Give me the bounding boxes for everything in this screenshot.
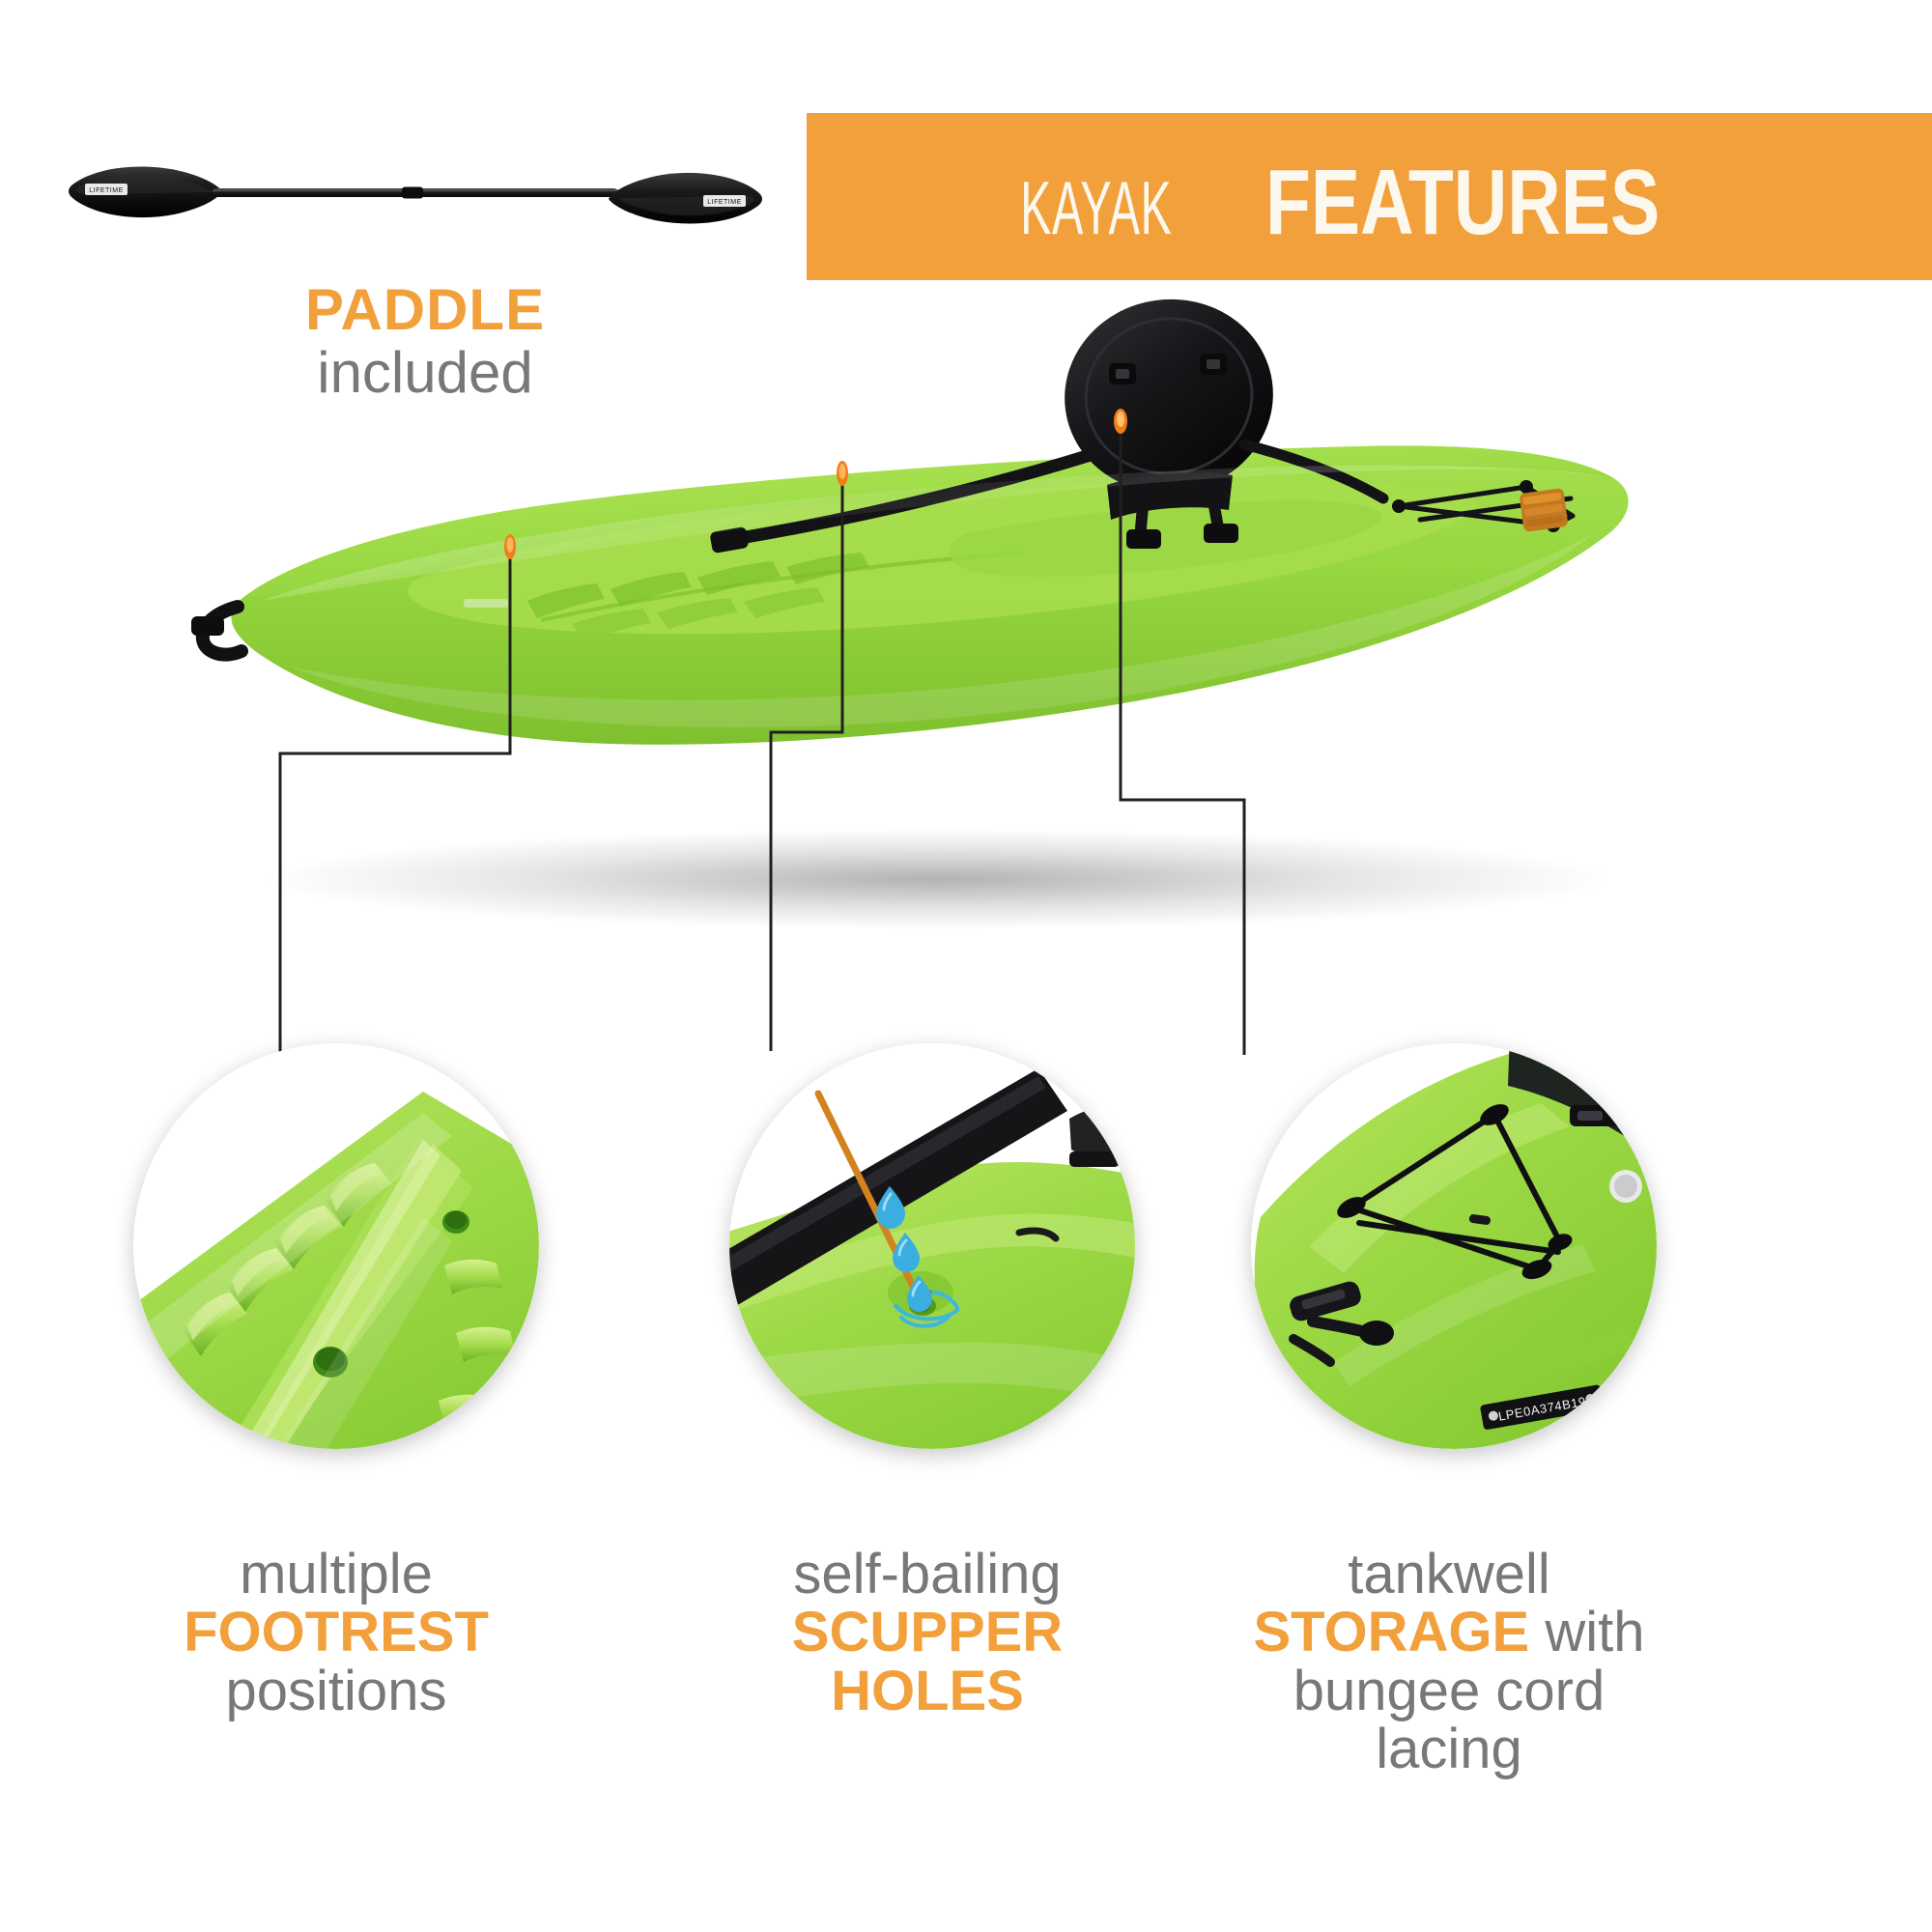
feature-circle-tankwell: LPE0A374B19 — [1251, 1043, 1657, 1449]
caption-tankwell-line3: bungee cord — [1140, 1662, 1758, 1720]
caption-tankwell-with-word: with — [1529, 1601, 1644, 1663]
banner-title-bold: FEATURES — [1265, 150, 1660, 256]
paddle-image: LIFETIME LIFETIME — [58, 135, 773, 261]
caption-footrest-line1: multiple — [46, 1546, 626, 1604]
feature-circle-scupper — [729, 1043, 1135, 1449]
caption-scupper: self-bailing SCUPPER HOLES — [638, 1546, 1217, 1720]
kayak-sit-on-top-icon — [174, 280, 1681, 976]
banner-title: KAYAK FEATURES — [974, 150, 1710, 256]
feature-circle-footrest — [133, 1043, 539, 1449]
caption-tankwell-line2: STORAGE with — [1140, 1604, 1758, 1662]
caption-tankwell-line4: lacing — [1140, 1720, 1758, 1778]
caption-footrest-line3: positions — [46, 1662, 626, 1720]
caption-tankwell: tankwell STORAGE with bungee cord lacing — [1140, 1546, 1758, 1778]
caption-scupper-line1: self-bailing — [638, 1546, 1217, 1604]
svg-text:LIFETIME: LIFETIME — [707, 199, 742, 206]
scupper-hole-detail-photo — [729, 1043, 1135, 1449]
hero-kayak-image — [174, 280, 1681, 976]
banner-title-light: KAYAK — [1020, 164, 1172, 252]
footrest-detail-photo — [133, 1043, 539, 1449]
kayak-features-banner: KAYAK FEATURES — [807, 113, 1932, 280]
caption-scupper-line2: SCUPPER — [638, 1604, 1217, 1662]
infographic-canvas: LIFETIME LIFETIME PADDLE included KAYAK … — [0, 0, 1932, 1932]
caption-tankwell-storage-word: STORAGE — [1253, 1601, 1529, 1663]
caption-footrest: multiple FOOTREST positions — [46, 1546, 626, 1720]
kayak-paddle-icon: LIFETIME LIFETIME — [58, 135, 773, 261]
caption-scupper-line3: HOLES — [638, 1662, 1217, 1720]
tankwell-storage-detail-photo: LPE0A374B19 — [1251, 1043, 1657, 1449]
svg-text:LIFETIME: LIFETIME — [89, 187, 124, 194]
caption-footrest-line2: FOOTREST — [46, 1604, 626, 1662]
caption-tankwell-line1: tankwell — [1140, 1546, 1758, 1604]
